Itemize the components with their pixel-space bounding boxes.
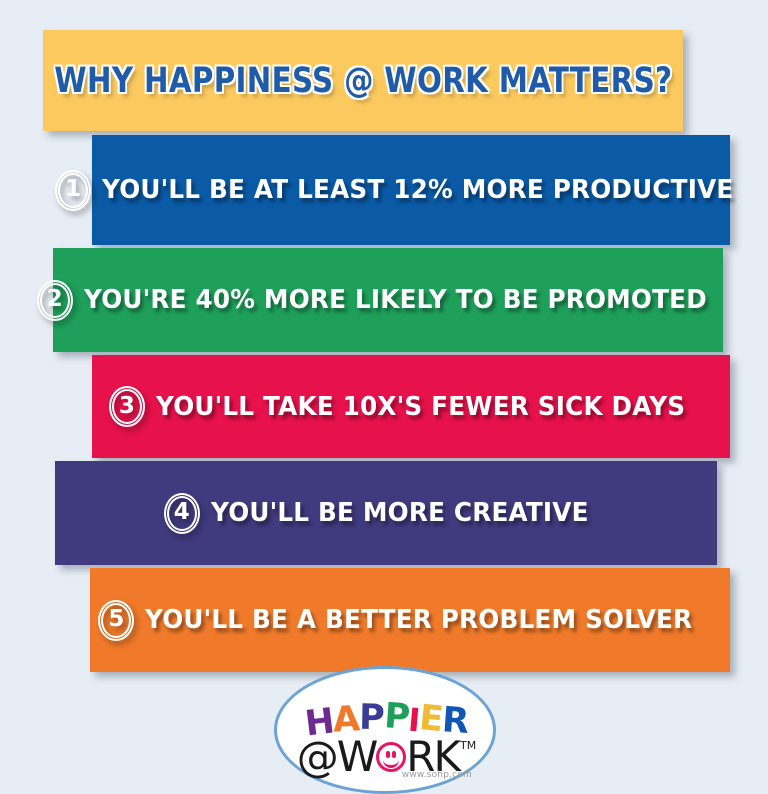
fact-row-1: 1 You'll Be At Least 12% More Productive: [92, 135, 730, 245]
fact-row-5: 5 You'll Be A Better Problem Solver: [90, 568, 730, 672]
fact-row-4: 4 You'll Be More Creative: [55, 461, 717, 565]
fact-text-2: You're 40% More Likely To Be Promoted: [84, 285, 707, 315]
number-badge-3: 3: [109, 386, 145, 427]
badge-number-4: 4: [164, 493, 200, 534]
smiley-face-icon: [376, 742, 406, 772]
header-banner: Why Happiness @ Work Matters?: [43, 30, 683, 131]
brand-logo[interactable]: H A P P I E R @ W RK TM www.sohp.com: [274, 672, 499, 794]
fact-text-3: You'll Take 10X's Fewer Sick Days: [156, 392, 685, 422]
logo-website-url[interactable]: www.sohp.com: [402, 770, 472, 780]
number-badge-4: 4: [164, 493, 200, 534]
fact-row-3: 3 You'll Take 10X's Fewer Sick Days: [92, 355, 730, 458]
trademark-symbol: TM: [460, 740, 476, 751]
logo-letter-w: W: [337, 736, 377, 778]
badge-number-1: 1: [55, 170, 91, 211]
number-badge-1: 1: [55, 170, 91, 211]
logo-at-symbol: @: [297, 736, 337, 778]
badge-number-5: 5: [98, 600, 134, 641]
infographic-canvas: Why Happiness @ Work Matters? 1 You'll B…: [0, 0, 768, 794]
fact-row-2: 2 You're 40% More Likely To Be Promoted: [53, 248, 723, 352]
logo-letter-p2: P: [383, 701, 410, 734]
smiley-mouth: [383, 756, 399, 768]
number-badge-2: 2: [37, 280, 73, 321]
page-title: Why Happiness @ Work Matters?: [54, 61, 672, 101]
badge-number-2: 2: [37, 280, 73, 321]
number-badge-5: 5: [98, 600, 134, 641]
fact-text-5: You'll Be A Better Problem Solver: [145, 605, 692, 635]
logo-letter-p1: P: [359, 703, 384, 735]
badge-number-3: 3: [109, 386, 145, 427]
fact-text-1: You'll Be At Least 12% More Productive: [102, 175, 733, 205]
fact-text-4: You'll Be More Creative: [211, 498, 589, 528]
